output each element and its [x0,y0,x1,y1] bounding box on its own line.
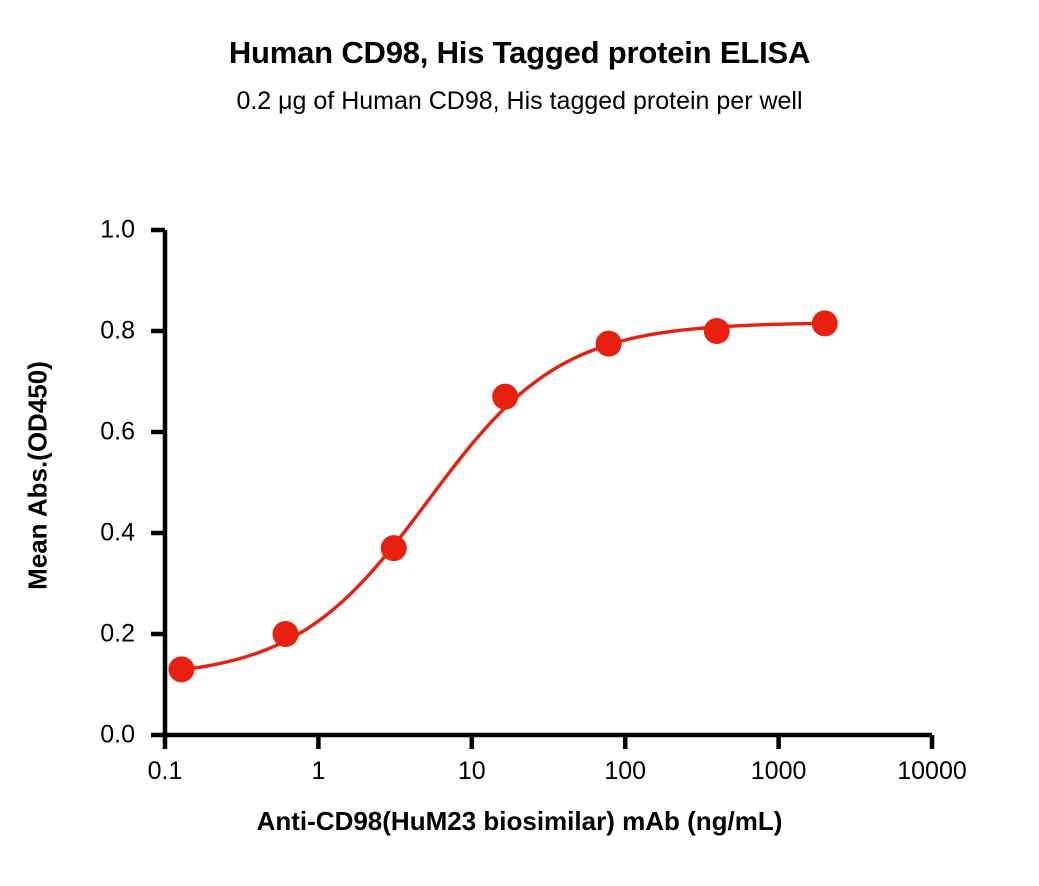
data-point-marker [492,384,518,410]
data-point-marker [168,656,194,682]
data-point-marker [812,310,838,336]
axes [151,230,932,749]
data-point-marker [272,621,298,647]
data-point-marker [596,331,622,357]
plot-area [0,0,1039,886]
fit-curve [181,323,824,670]
data-points [168,310,837,682]
data-point-marker [381,535,407,561]
data-point-marker [704,318,730,344]
elisa-chart-figure: Human CD98, His Tagged protein ELISA 0.2… [0,0,1039,886]
